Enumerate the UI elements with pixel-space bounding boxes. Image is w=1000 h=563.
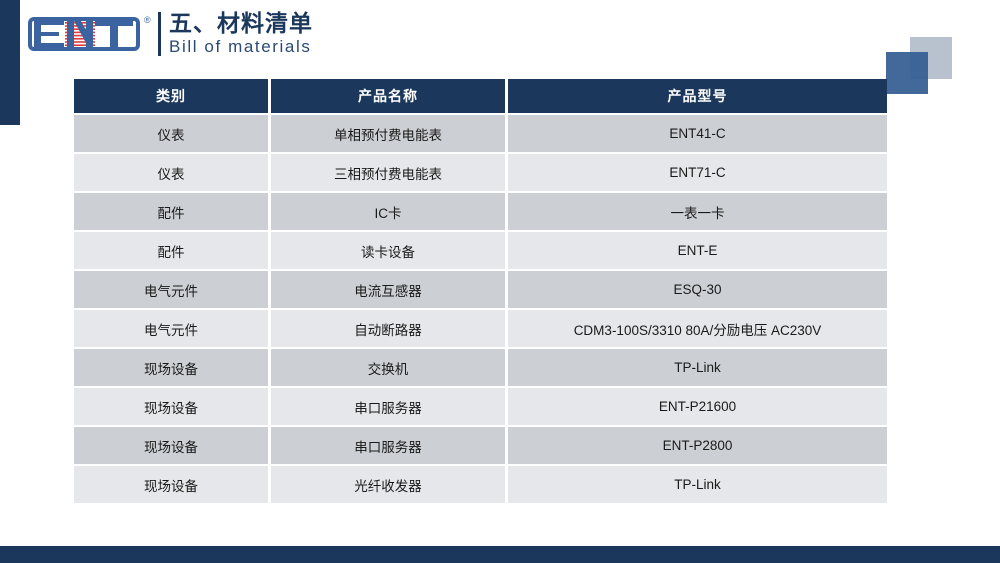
cell-product-model: ENT41-C bbox=[508, 115, 887, 152]
cell-product-model: TP-Link bbox=[508, 349, 887, 386]
column-header-category: 类别 bbox=[74, 79, 268, 113]
cell-product-name: 单相预付费电能表 bbox=[271, 115, 505, 152]
cell-product-model: 一表一卡 bbox=[508, 193, 887, 230]
table-row: 配件读卡设备ENT-E bbox=[74, 232, 887, 269]
cell-product-name: 三相预付费电能表 bbox=[271, 154, 505, 191]
title-divider bbox=[158, 12, 161, 56]
cell-product-name: 串口服务器 bbox=[271, 427, 505, 464]
cell-product-name: 自动断路器 bbox=[271, 310, 505, 347]
cell-product-model: ENT-P2800 bbox=[508, 427, 887, 464]
table-row: 现场设备交换机TP-Link bbox=[74, 349, 887, 386]
table-row: 仪表三相预付费电能表ENT71-C bbox=[74, 154, 887, 191]
cell-category: 仪表 bbox=[74, 154, 268, 191]
cell-category: 配件 bbox=[74, 193, 268, 230]
cell-category: 现场设备 bbox=[74, 349, 268, 386]
table-row: 现场设备光纤收发器TP-Link bbox=[74, 466, 887, 503]
slide-header: ® 五、材料清单 Bill of materials bbox=[28, 8, 313, 60]
cell-category: 电气元件 bbox=[74, 271, 268, 308]
table-header: 类别 产品名称 产品型号 bbox=[74, 79, 887, 113]
table-row: 电气元件电流互感器ESQ-30 bbox=[74, 271, 887, 308]
table-row: 现场设备串口服务器ENT-P2800 bbox=[74, 427, 887, 464]
table-row: 现场设备串口服务器ENT-P21600 bbox=[74, 388, 887, 425]
table-row: 仪表单相预付费电能表ENT41-C bbox=[74, 115, 887, 152]
cell-category: 电气元件 bbox=[74, 310, 268, 347]
logo-letter-t bbox=[95, 21, 133, 47]
ent-logo-icon bbox=[28, 17, 140, 51]
ent-logo-letters bbox=[32, 21, 136, 47]
cell-product-model: TP-Link bbox=[508, 466, 887, 503]
registered-mark-icon: ® bbox=[144, 16, 151, 25]
cell-product-name: 串口服务器 bbox=[271, 388, 505, 425]
cell-product-model: CDM3-100S/3310 80A/分励电压 AC230V bbox=[508, 310, 887, 347]
title-texts: 五、材料清单 Bill of materials bbox=[169, 10, 313, 58]
column-header-product-model: 产品型号 bbox=[508, 79, 887, 113]
cell-product-model: ESQ-30 bbox=[508, 271, 887, 308]
cell-category: 配件 bbox=[74, 232, 268, 269]
cell-product-name: 电流互感器 bbox=[271, 271, 505, 308]
cell-category: 现场设备 bbox=[74, 388, 268, 425]
cell-product-model: ENT-P21600 bbox=[508, 388, 887, 425]
page-subtitle: Bill of materials bbox=[169, 37, 313, 57]
page-title: 五、材料清单 bbox=[169, 10, 313, 37]
table-row: 电气元件自动断路器CDM3-100S/3310 80A/分励电压 AC230V bbox=[74, 310, 887, 347]
logo-letter-e bbox=[34, 21, 64, 47]
cell-product-name: IC卡 bbox=[271, 193, 505, 230]
ent-logo: ® bbox=[28, 14, 158, 54]
cell-product-name: 读卡设备 bbox=[271, 232, 505, 269]
column-header-product-name: 产品名称 bbox=[271, 79, 505, 113]
table-body: 仪表单相预付费电能表ENT41-C仪表三相预付费电能表ENT71-C配件IC卡一… bbox=[74, 115, 887, 503]
cell-product-model: ENT-E bbox=[508, 232, 887, 269]
bill-of-materials-table: 类别 产品名称 产品型号 仪表单相预付费电能表ENT41-C仪表三相预付费电能表… bbox=[71, 77, 890, 505]
cell-product-name: 光纤收发器 bbox=[271, 466, 505, 503]
decorative-square-blue bbox=[886, 52, 928, 94]
bottom-accent-bar bbox=[0, 546, 1000, 563]
cell-product-name: 交换机 bbox=[271, 349, 505, 386]
table-header-row: 类别 产品名称 产品型号 bbox=[74, 79, 887, 113]
cell-product-model: ENT71-C bbox=[508, 154, 887, 191]
slide-bill-of-materials: { "header": { "logo_text": "ENT", "logo_… bbox=[0, 0, 1000, 563]
cell-category: 现场设备 bbox=[74, 466, 268, 503]
left-accent-strip bbox=[0, 0, 20, 125]
cell-category: 现场设备 bbox=[74, 427, 268, 464]
cell-category: 仪表 bbox=[74, 115, 268, 152]
table-row: 配件IC卡一表一卡 bbox=[74, 193, 887, 230]
